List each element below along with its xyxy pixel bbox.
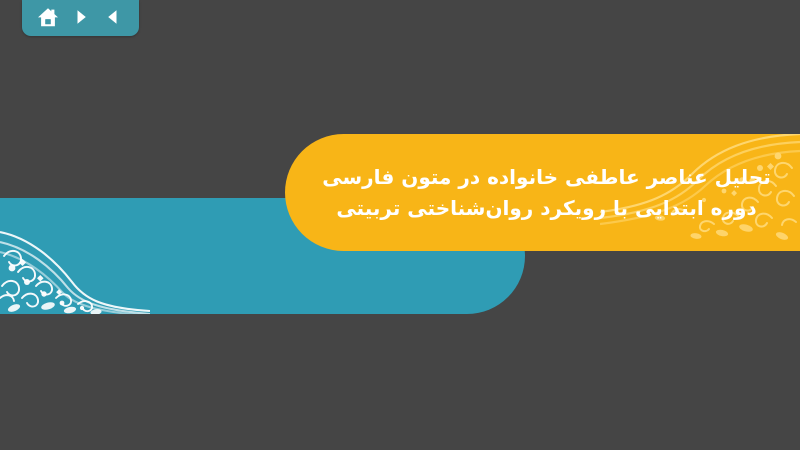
forward-icon [72, 8, 90, 26]
slide-canvas: تحلیل عناصر عاطفی خانواده در متون فارسی … [0, 0, 800, 450]
title-line-1: تحلیل عناصر عاطفی خانواده در متون فارسی [322, 162, 770, 193]
navigation-bar [22, 0, 139, 36]
arabesque-ornament [0, 198, 150, 314]
back-icon [104, 8, 122, 26]
back-button[interactable] [100, 4, 126, 30]
home-button[interactable] [35, 4, 61, 30]
forward-button[interactable] [68, 4, 94, 30]
slide-title: تحلیل عناصر عاطفی خانواده در متون فارسی … [285, 134, 800, 251]
title-line-2: دوره ابتدایی با رویکرد روان‌شناختی تربیت… [336, 193, 756, 224]
home-icon [37, 7, 59, 28]
